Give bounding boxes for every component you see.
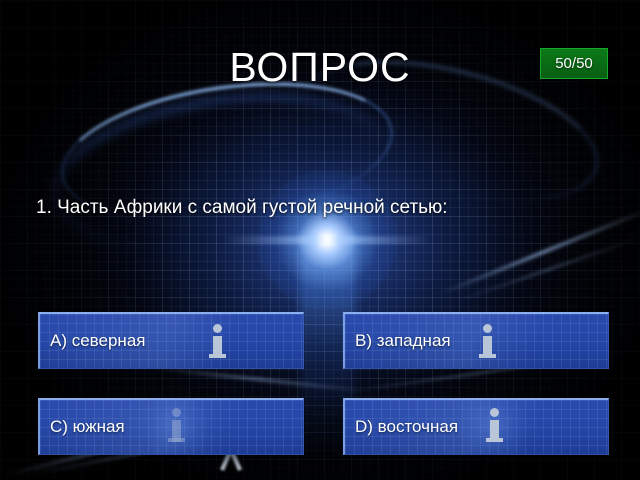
info-icon bbox=[478, 324, 496, 358]
answer-label-a: А) северная bbox=[40, 331, 145, 351]
info-icon bbox=[485, 408, 503, 442]
question-slide: ВОПРОС 50/50 1. Часть Африки с самой гус… bbox=[0, 0, 640, 480]
answer-option-a[interactable]: А) северная bbox=[38, 312, 304, 369]
answer-option-c[interactable]: С) южная bbox=[38, 398, 304, 455]
background-streak bbox=[438, 207, 640, 296]
lifeline-5050-button[interactable]: 50/50 bbox=[540, 48, 608, 79]
info-icon-halo bbox=[140, 398, 210, 455]
info-icon-halo bbox=[457, 398, 527, 455]
lifeline-label: 50/50 bbox=[555, 56, 593, 71]
answer-label-d: D) восточная bbox=[345, 417, 458, 437]
answer-label-c: С) южная bbox=[40, 417, 125, 437]
question-text: 1. Часть Африки с самой густой речной се… bbox=[36, 196, 616, 220]
info-icon bbox=[167, 408, 185, 442]
answer-option-b[interactable]: В) западная bbox=[343, 312, 609, 369]
info-icon bbox=[208, 324, 226, 358]
answer-label-b: В) западная bbox=[345, 331, 451, 351]
answer-option-d[interactable]: D) восточная bbox=[343, 398, 609, 455]
background-streak bbox=[455, 235, 640, 302]
